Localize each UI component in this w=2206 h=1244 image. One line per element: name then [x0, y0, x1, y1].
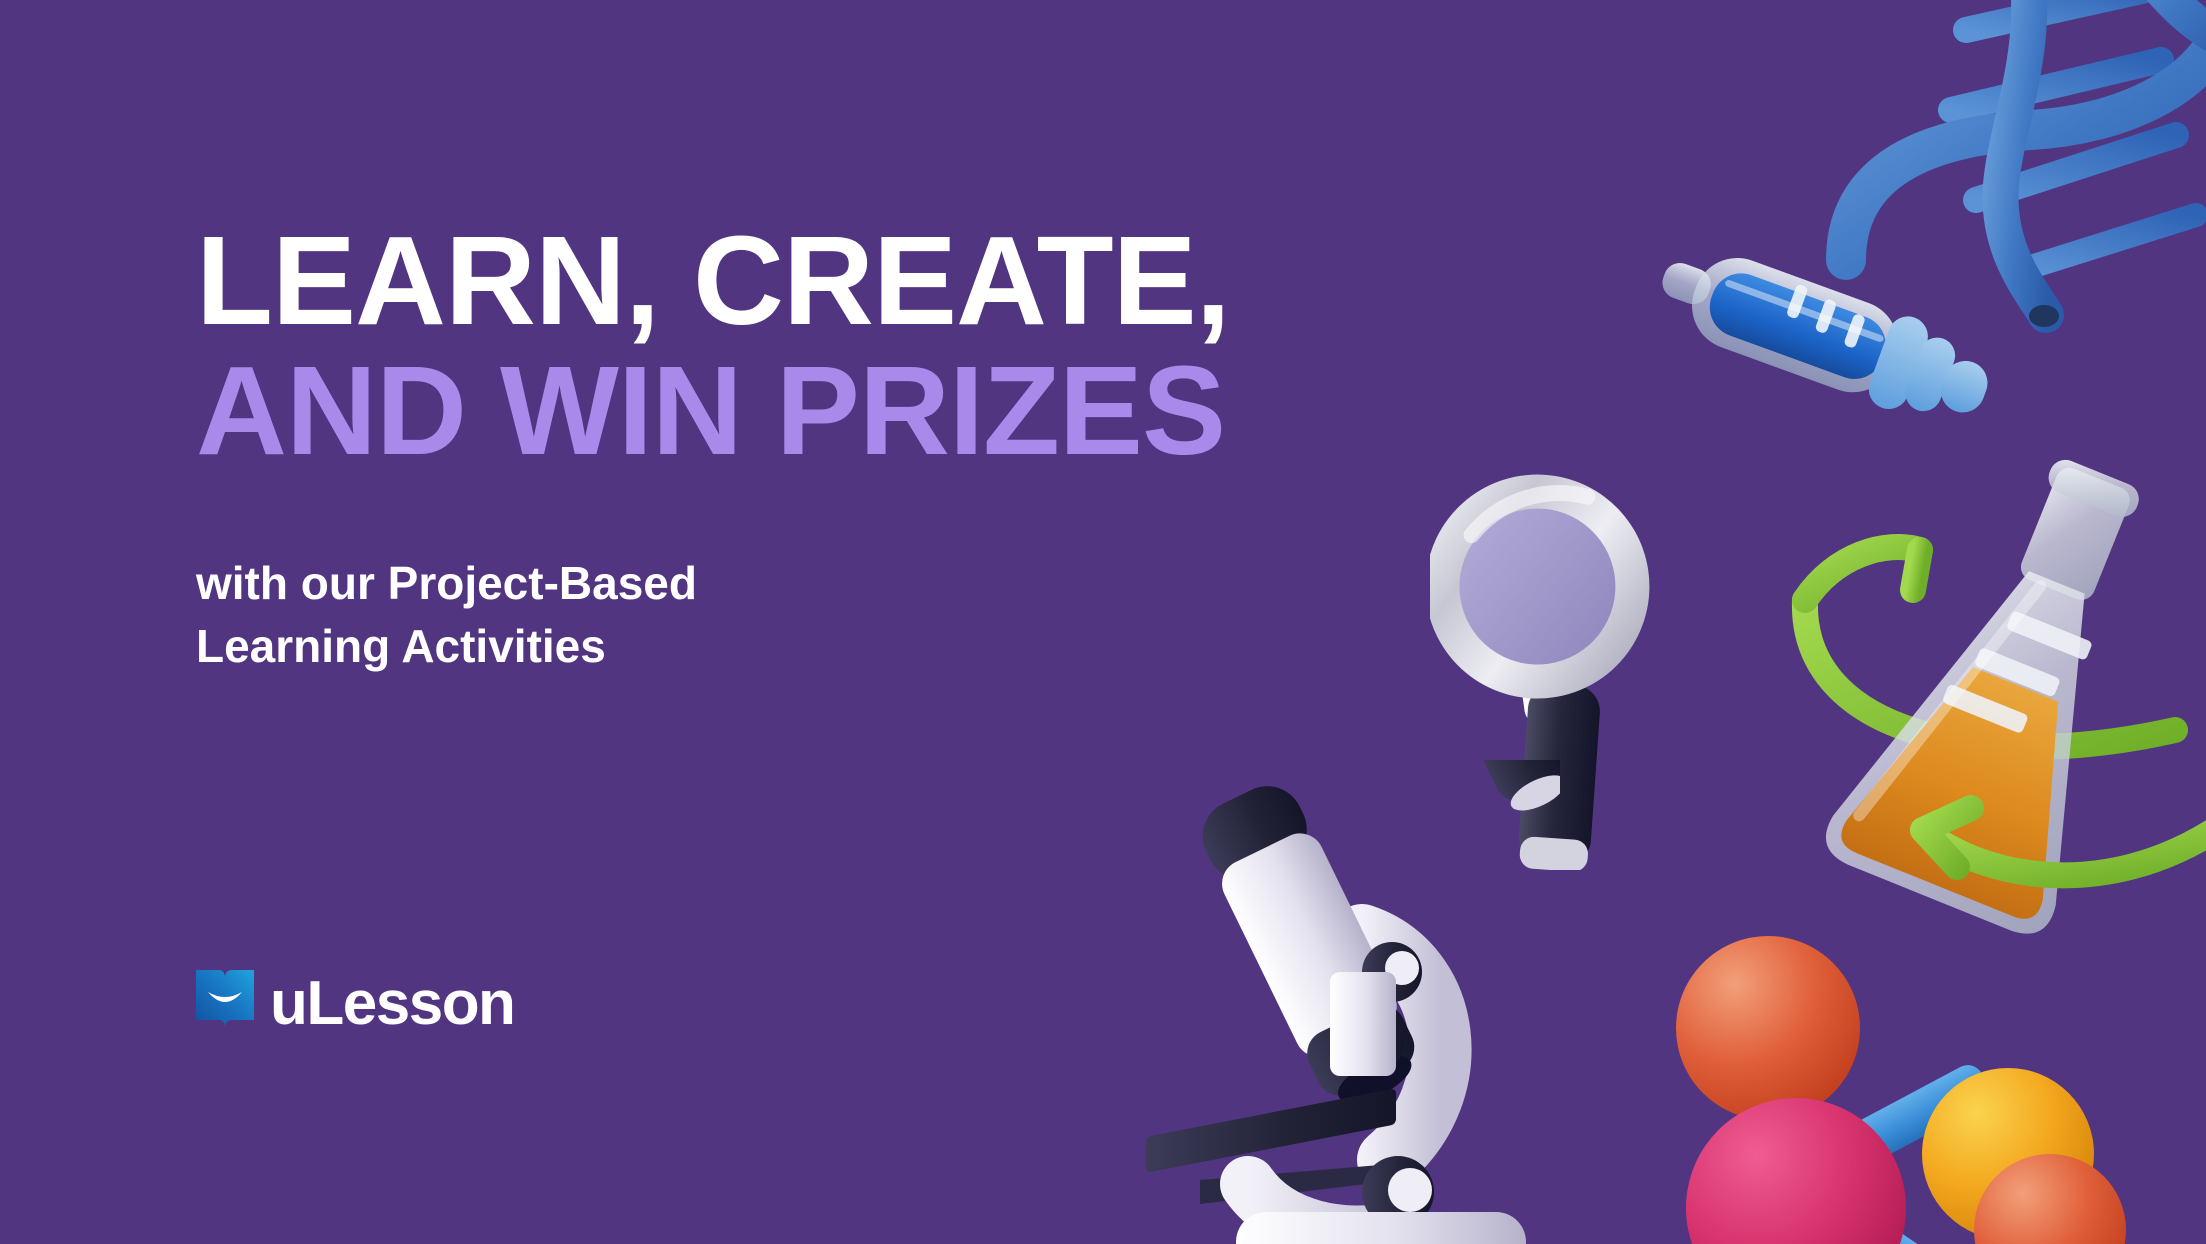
ulesson-book-smile-mark — [196, 968, 254, 1040]
atom-pink — [1686, 1098, 1906, 1244]
green-arrow-back — [1805, 600, 2175, 747]
magnifying-glass-icon — [1430, 450, 1720, 870]
subtitle-text: with our Project-Based Learning Activiti… — [196, 552, 896, 679]
ulesson-logo[interactable]: uLesson — [196, 968, 514, 1040]
dna-helix-icon — [1816, 0, 2206, 370]
erlenmeyer-flask-icon — [1745, 430, 2206, 970]
syringe-icon — [1630, 240, 2030, 440]
atom-orange-top — [1676, 936, 1860, 1120]
headline-line-2: AND WIN PRIZES — [196, 348, 1230, 474]
atom-orange-bottom — [1974, 1154, 2126, 1244]
green-arrow-front — [1923, 830, 2206, 875]
molecule-model-icon — [1620, 900, 2206, 1244]
green-arrow-head — [1923, 808, 1971, 867]
promo-banner: LEARN, CREATE, AND WIN PRIZES with our P… — [0, 0, 2206, 1244]
ulesson-wordmark: uLesson — [270, 973, 514, 1035]
headline-line-1: LEARN, CREATE, — [196, 218, 1230, 344]
headline-block: LEARN, CREATE, AND WIN PRIZES — [196, 218, 1230, 474]
microscope-icon — [1130, 760, 1560, 1244]
atom-yellow — [1922, 1068, 2094, 1240]
